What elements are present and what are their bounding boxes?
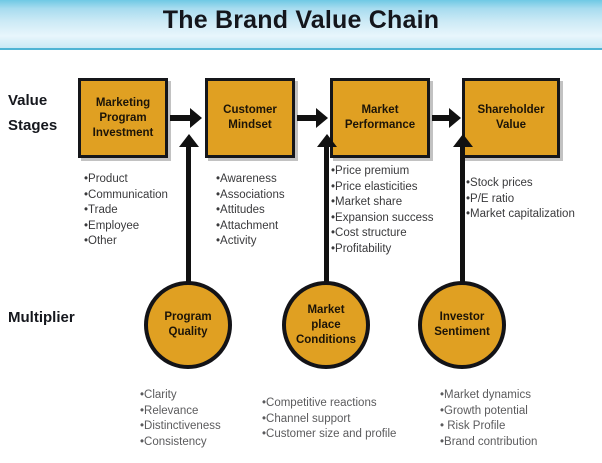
arrow-mindset-to-performance — [297, 115, 317, 121]
arrow-investor-sentiment-to-shareholder — [460, 146, 465, 286]
bullet-list-investor-sentiment: •Market dynamics •Growth potential • Ris… — [440, 388, 600, 450]
bullet-list-shareholder-value: •Stock prices •P/E ratio •Market capital… — [466, 176, 601, 223]
bullet-list-market-performance: •Price premium •Price elasticities •Mark… — [331, 164, 451, 257]
bullet-list-marketing-program-investment: •Product •Communication •Trade •Employee… — [84, 172, 199, 250]
multiplier-circle-program-quality[interactable]: Program Quality — [144, 281, 232, 369]
arrow-performance-to-shareholder — [432, 115, 450, 121]
bullet-list-program-quality: •Clarity •Relevance •Distinctiveness •Co… — [140, 388, 270, 450]
row-label-value-stages: Value Stages — [8, 88, 57, 138]
row-label-multiplier: Multiplier — [8, 305, 75, 330]
title-banner: The Brand Value Chain — [0, 0, 602, 50]
stage-box-customer-mindset[interactable]: Customer Mindset — [205, 78, 295, 158]
arrow-investment-to-mindset — [170, 115, 191, 121]
bullet-list-marketplace-conditions: •Competitive reactions •Channel support … — [262, 396, 432, 443]
bullet-list-customer-mindset: •Awareness •Associations •Attitudes •Att… — [216, 172, 326, 250]
stage-box-marketing-program-investment[interactable]: Marketing Program Investment — [78, 78, 168, 158]
multiplier-circle-investor-sentiment[interactable]: Investor Sentiment — [418, 281, 506, 369]
page-title: The Brand Value Chain — [0, 6, 602, 35]
diagram-canvas: The Brand Value Chain Value Stages Multi… — [0, 0, 602, 463]
stage-box-shareholder-value[interactable]: Shareholder Value — [462, 78, 560, 158]
stage-box-market-performance[interactable]: Market Performance — [330, 78, 430, 158]
multiplier-circle-marketplace-conditions[interactable]: Market place Conditions — [282, 281, 370, 369]
